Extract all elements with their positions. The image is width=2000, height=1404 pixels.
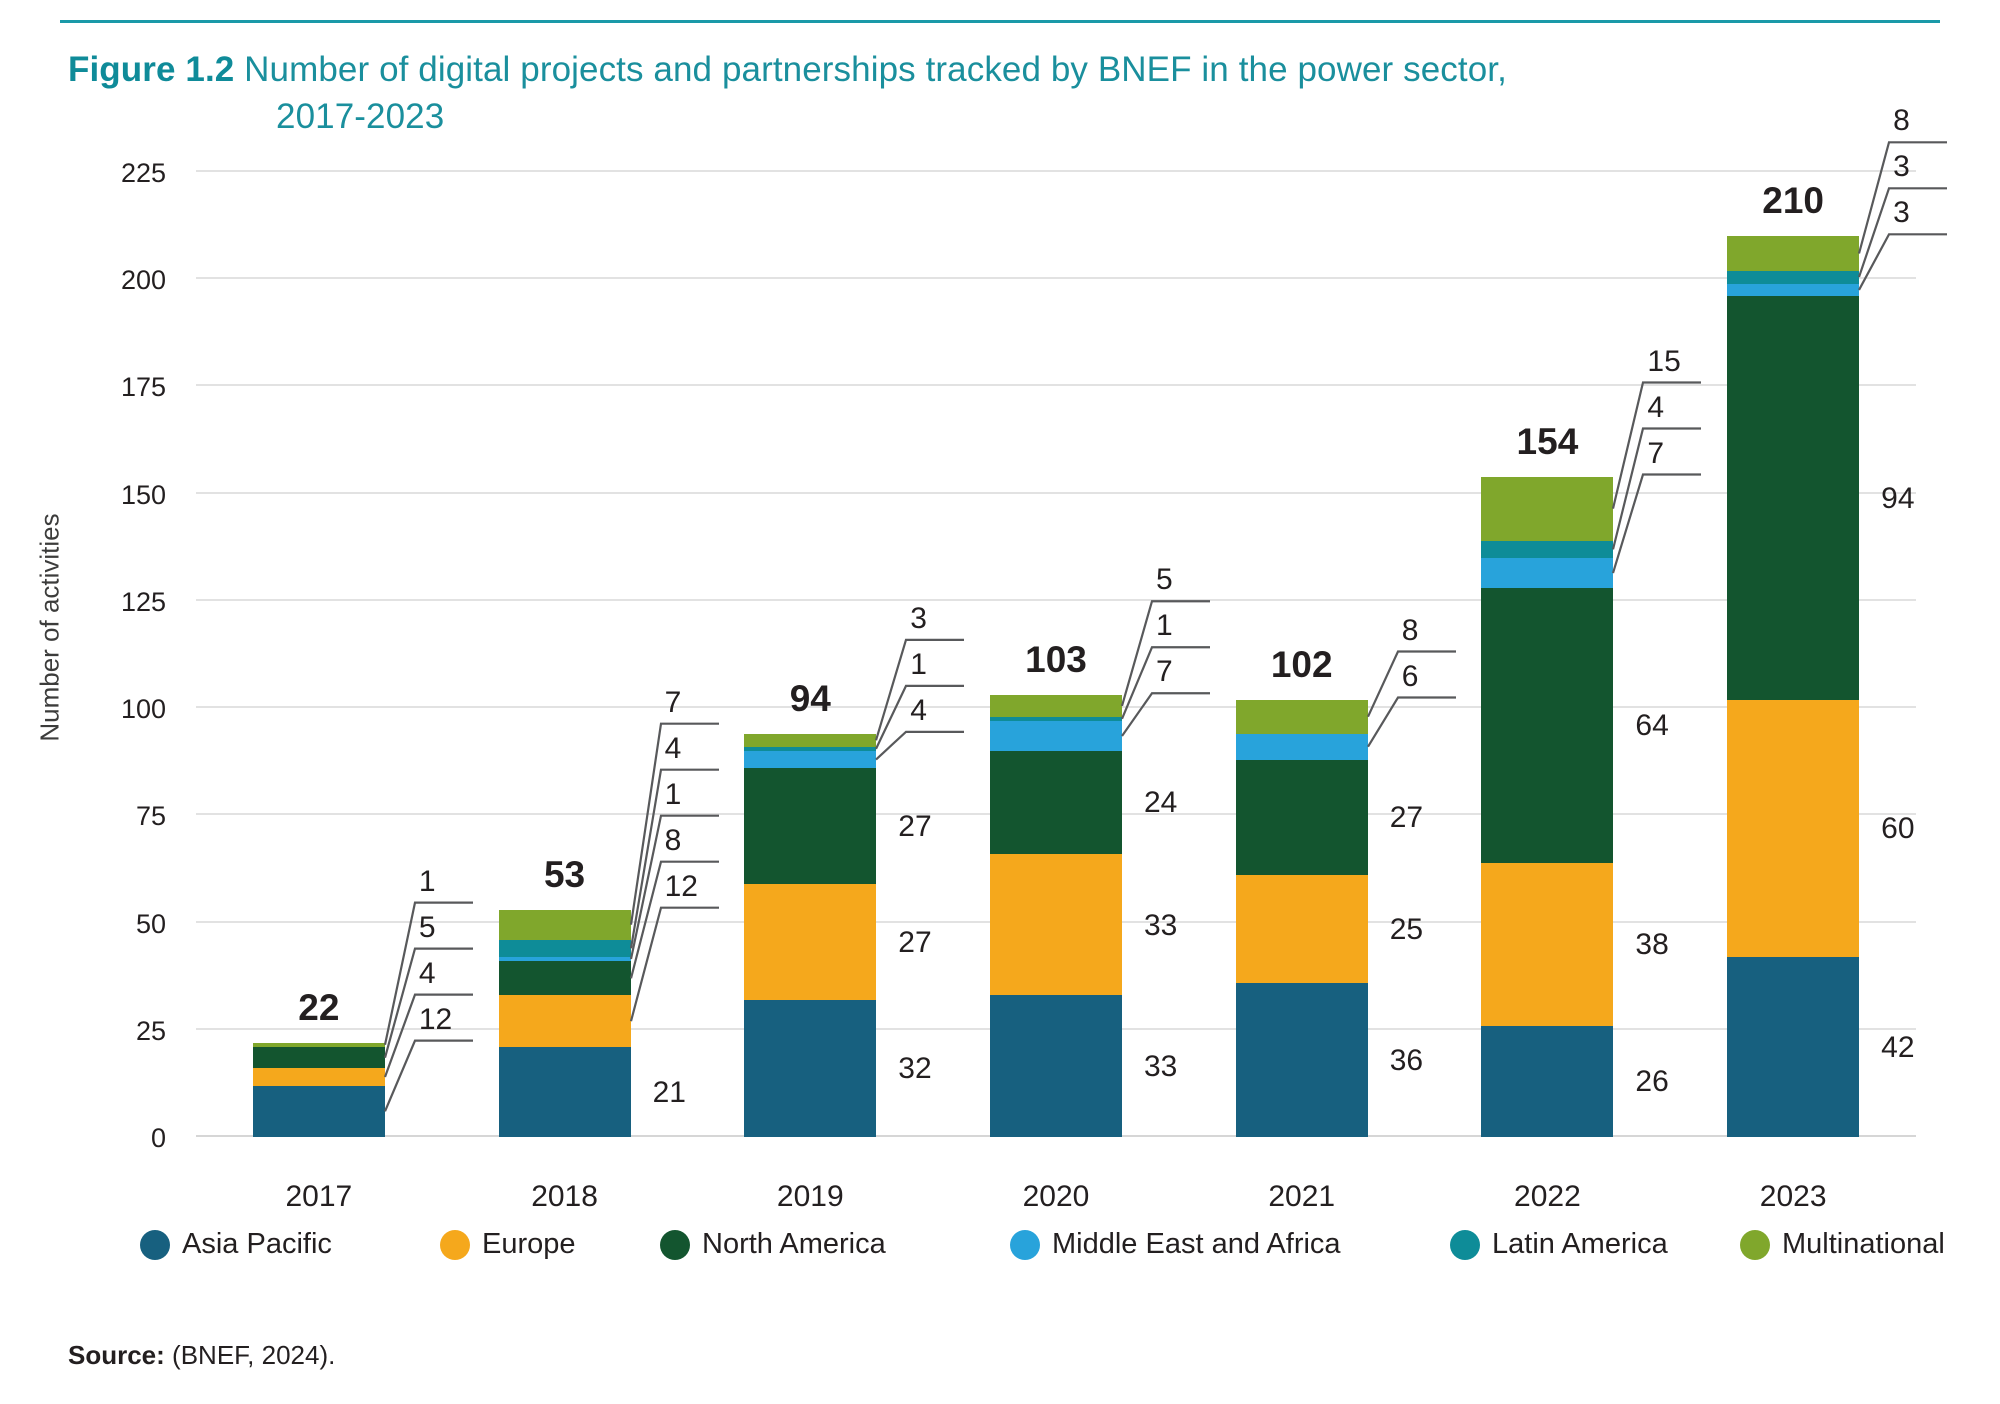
chart-area: Number of activities 0255075100125150175…: [0, 150, 2000, 1210]
x-axis-tick-label: 2017: [199, 1180, 439, 1214]
y-axis-tick-label: 175: [46, 372, 166, 403]
y-axis-tick-labels: 0255075100125150175200225: [0, 172, 180, 1137]
y-axis-tick-label: 50: [46, 909, 166, 940]
legend-item-latin-america[interactable]: Latin America: [1450, 1228, 1668, 1261]
legend-item-middle-east-and-africa[interactable]: Middle East and Africa: [1010, 1228, 1341, 1261]
legend-swatch-icon: [1740, 1230, 1770, 1260]
legend-swatch-icon: [1450, 1230, 1480, 1260]
legend-label: North America: [702, 1228, 886, 1261]
figure-title-line-1: Figure 1.2 Number of digital projects an…: [68, 46, 1948, 93]
y-axis-tick-label: 225: [46, 158, 166, 189]
legend-item-asia-pacific[interactable]: Asia Pacific: [140, 1228, 332, 1261]
y-axis-tick-label: 200: [46, 265, 166, 296]
legend-item-europe[interactable]: Europe: [440, 1228, 576, 1261]
source-text: (BNEF, 2024).: [172, 1340, 335, 1370]
top-rule: [60, 20, 1940, 23]
legend-label: Latin America: [1492, 1228, 1668, 1261]
figure-page: Figure 1.2 Number of digital projects an…: [0, 0, 2000, 1404]
y-axis-tick-label: 25: [46, 1016, 166, 1047]
legend-label: Middle East and Africa: [1052, 1228, 1341, 1261]
figure-title-line-2: 2017-2023: [68, 93, 1948, 140]
legend-label: Multinational: [1782, 1228, 1945, 1261]
y-axis-tick-label: 125: [46, 587, 166, 618]
figure-title-block: Figure 1.2 Number of digital projects an…: [68, 46, 1948, 140]
x-axis-tick-label: 2019: [690, 1180, 930, 1214]
legend-item-north-america[interactable]: North America: [660, 1228, 886, 1261]
y-axis-tick-label: 150: [46, 480, 166, 511]
legend-swatch-icon: [1010, 1230, 1040, 1260]
chart-legend: Asia PacificEuropeNorth AmericaMiddle Ea…: [140, 1228, 1940, 1284]
legend-swatch-icon: [440, 1230, 470, 1260]
source-note: Source: (BNEF, 2024).: [68, 1340, 335, 1371]
legend-item-multinational[interactable]: Multinational: [1740, 1228, 1945, 1261]
y-axis-tick-label: 100: [46, 694, 166, 725]
legend-swatch-icon: [140, 1230, 170, 1260]
y-axis-tick-label: 75: [46, 801, 166, 832]
x-axis-tick-labels: 2017201820192020202120222023: [196, 172, 1916, 1137]
x-axis-tick-label: 2022: [1427, 1180, 1667, 1214]
figure-number: Figure 1.2: [68, 50, 234, 89]
x-axis-tick-label: 2018: [445, 1180, 685, 1214]
legend-label: Europe: [482, 1228, 576, 1261]
source-label: Source:: [68, 1340, 165, 1370]
figure-title-text: Number of digital projects and partnersh…: [244, 50, 1507, 89]
x-axis-tick-label: 2023: [1673, 1180, 1913, 1214]
bar-segment-label: 8: [1893, 104, 1910, 138]
legend-swatch-icon: [660, 1230, 690, 1260]
x-axis-tick-label: 2020: [936, 1180, 1176, 1214]
y-axis-tick-label: 0: [46, 1123, 166, 1154]
x-axis-tick-label: 2021: [1182, 1180, 1422, 1214]
legend-label: Asia Pacific: [182, 1228, 332, 1261]
